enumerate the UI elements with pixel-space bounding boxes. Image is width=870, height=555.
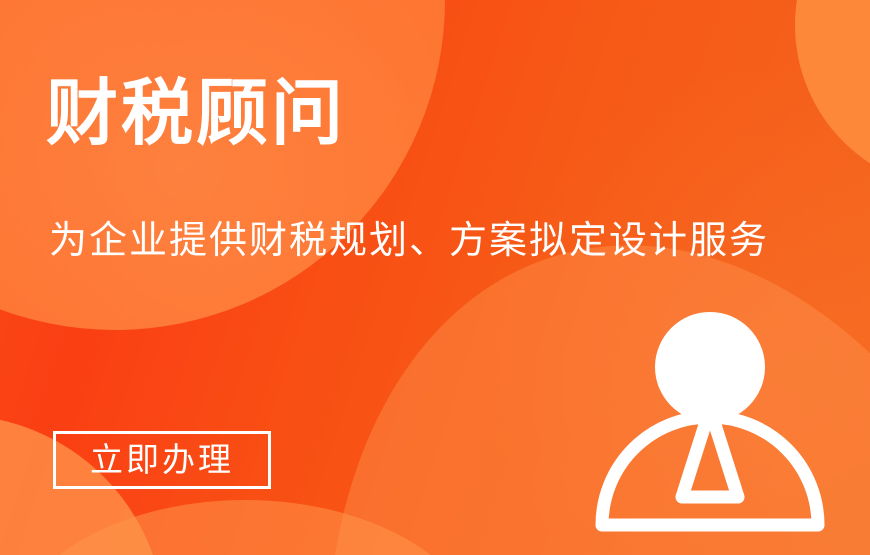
banner-title: 财税顾问 bbox=[46, 78, 346, 150]
person-advisor-icon bbox=[592, 305, 832, 545]
person-body-icon bbox=[602, 417, 818, 525]
apply-now-button[interactable]: 立即办理 bbox=[53, 431, 271, 489]
banner-content: 财税顾问 为企业提供财税规划、方案拟定设计服务 立即办理 bbox=[0, 0, 870, 555]
promo-banner: 财税顾问 为企业提供财税规划、方案拟定设计服务 立即办理 bbox=[0, 0, 870, 555]
banner-subtitle: 为企业提供财税规划、方案拟定设计服务 bbox=[49, 219, 769, 265]
